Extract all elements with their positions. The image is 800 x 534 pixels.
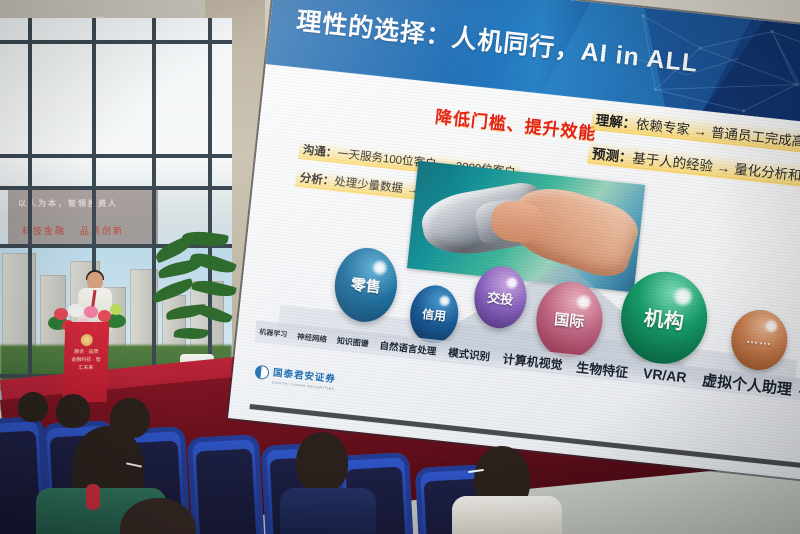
tech-term: 自然语言处理: [379, 338, 437, 358]
podium-line1: 融合 · 品质: [69, 348, 103, 356]
podium-emblem: [81, 334, 93, 346]
audience-area: [0, 394, 800, 534]
sphere-label: 国际: [553, 308, 585, 332]
tech-term: 计算机视觉: [502, 349, 563, 372]
point-before: 基于人的经验: [632, 151, 714, 175]
tech-term: 知识图谱: [336, 335, 369, 349]
company-logo: 国泰君安证券 GUOTAI JUNAN SECURITIES: [254, 361, 337, 391]
point-label: 沟通：: [302, 144, 338, 160]
wall-banner-line2: 科技金融 · 品质创新: [22, 224, 124, 237]
point-after: 量化分析和预测: [734, 161, 800, 186]
sphere-label: 机构: [643, 301, 686, 334]
audience-head: [56, 394, 90, 428]
guotai-junan-mark-icon: [254, 365, 269, 380]
sphere-label: ……: [746, 332, 773, 349]
point-before: 依赖专家: [635, 117, 690, 138]
point-label: 理解：: [595, 112, 637, 131]
slide-subtitle: 降低门槛、提升效能: [434, 102, 598, 144]
seat: [187, 434, 265, 534]
sphere-label: 信用: [421, 305, 447, 324]
slide-header-bar: 理性的选择：人机同行，AI in ALL: [266, 0, 800, 128]
tech-term: 模式识别: [447, 345, 490, 364]
point-label: 预测：: [591, 146, 633, 165]
wall-banner-line1: 以人为本，智领投资人: [18, 198, 118, 209]
mullion: [28, 18, 32, 393]
audience-head: [18, 392, 48, 422]
point-before: 处理少量数据: [334, 176, 404, 195]
lanyard: [86, 484, 100, 510]
audience-shirt: [452, 496, 562, 534]
podium-text: 融合 · 品质 金融科技 · 智汇未来: [69, 348, 104, 372]
podium-line2: 金融科技 · 智汇未来: [69, 356, 104, 372]
arrow-icon: →: [712, 159, 735, 176]
audience-shirt: [280, 488, 376, 534]
podium: 融合 · 品质 金融科技 · 智汇未来: [63, 322, 110, 402]
sphere-label: 零售: [350, 273, 382, 297]
tech-term: VR/AR: [642, 365, 687, 386]
transom: [0, 186, 232, 190]
sphere-label: 交投: [486, 286, 514, 308]
arrow-icon: →: [689, 122, 712, 139]
transom: [0, 154, 232, 158]
point-after: 普通员工完成高难度工作: [710, 125, 800, 156]
tech-term: 神经网络: [297, 330, 328, 344]
transom: [0, 40, 232, 44]
point-label: 分析：: [299, 172, 335, 188]
tech-term: 机器学习: [259, 327, 288, 340]
photo-scene: 以人为本，智领投资人 科技金融 · 品质创新: [0, 0, 800, 534]
tech-term: 生物特征: [576, 356, 630, 380]
audience-head: [296, 432, 348, 492]
